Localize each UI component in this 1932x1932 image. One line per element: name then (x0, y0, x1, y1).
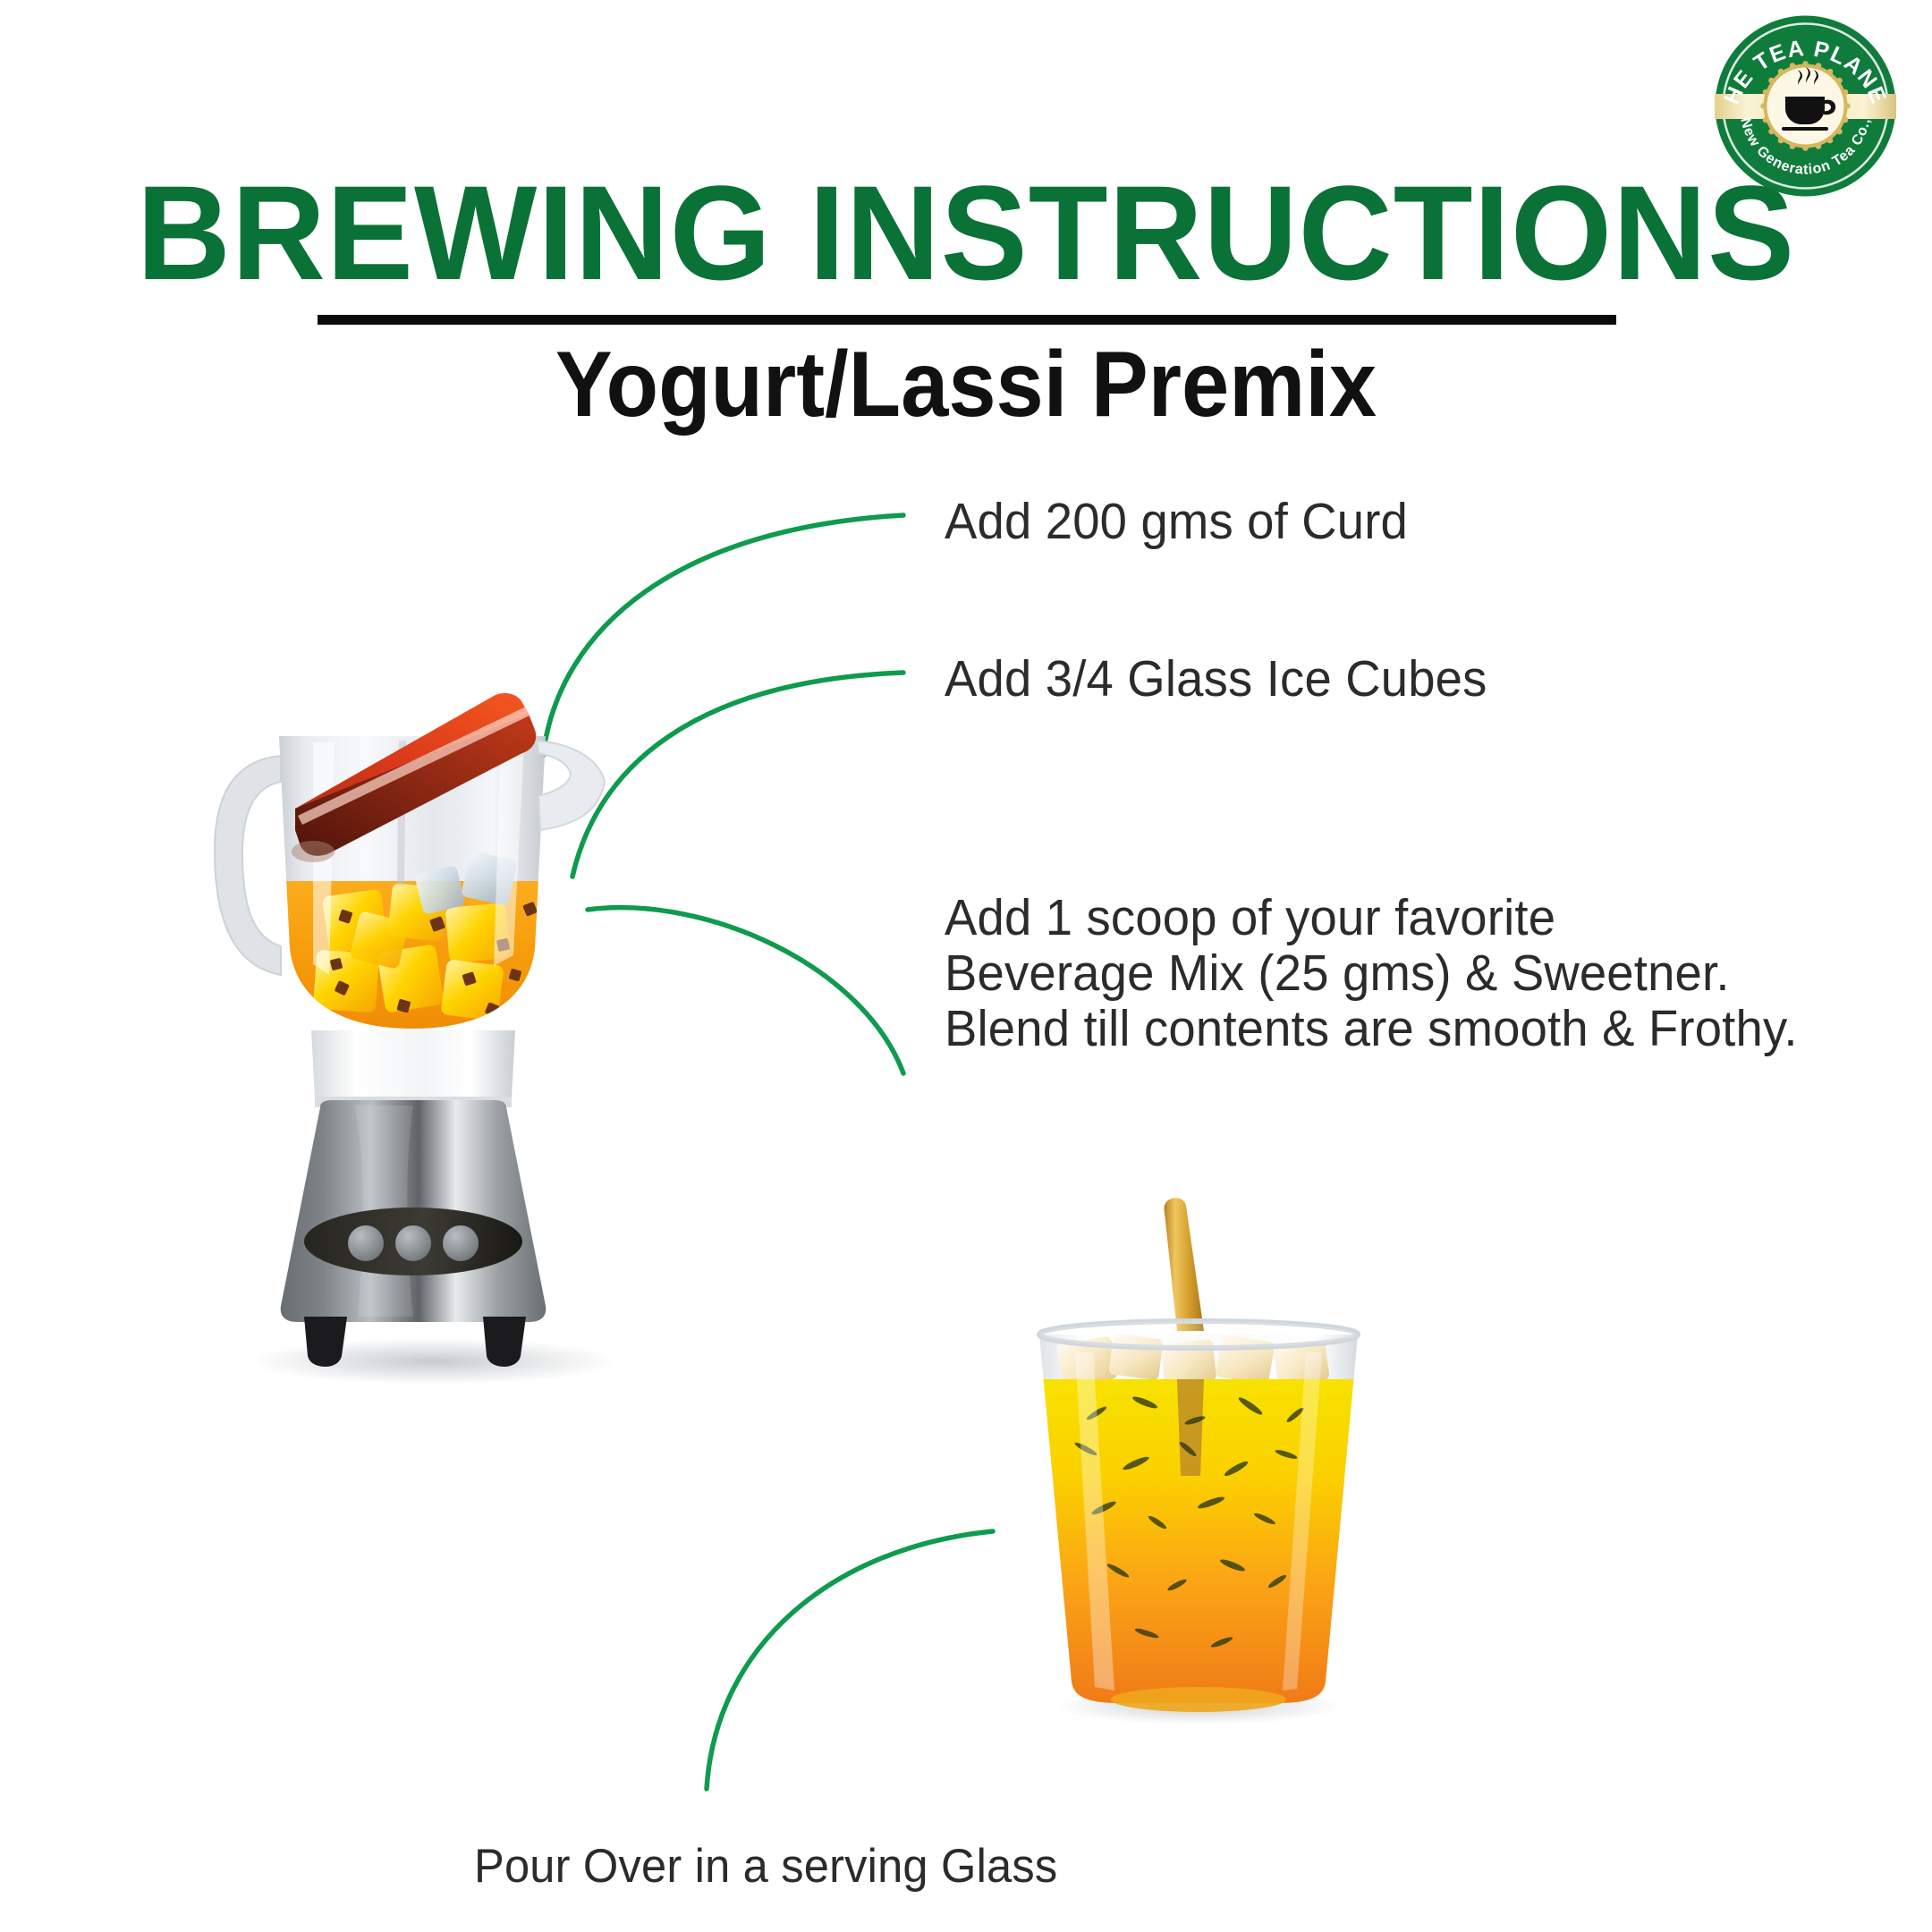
blender-illustration (179, 590, 680, 1431)
drinking-straw (1164, 1198, 1204, 1331)
cup-rim-fill (1039, 1321, 1358, 1348)
page-title: BREWING INSTRUCTIONS (29, 165, 1902, 300)
blender-button-2[interactable] (395, 1225, 431, 1261)
straw-submerged (1177, 1379, 1204, 1476)
serving-glass-svg (1011, 1181, 1386, 1735)
step-1-label: Add 200 gms of Curd (945, 494, 1408, 550)
connector-step-4 (707, 1531, 993, 1789)
step-2-label: Add 3/4 Glass Ice Cubes (945, 651, 1487, 708)
blender-svg (179, 590, 680, 1431)
blender-spout (537, 741, 605, 830)
title-underline (318, 315, 1616, 325)
page-subtitle: Yogurt/Lassi Premix (77, 333, 1854, 436)
blender-collar (311, 1030, 515, 1097)
serving-glass-illustration (1011, 1181, 1386, 1735)
blender-button-3[interactable] (443, 1225, 479, 1261)
step-3-label: Add 1 scoop of your favorite Beverage Mi… (945, 890, 1798, 1056)
blender-buttons[interactable] (348, 1225, 479, 1261)
blender-button-1[interactable] (348, 1225, 384, 1261)
blender-shadow (250, 1338, 617, 1385)
blender-handle (215, 756, 281, 975)
cup-base (1111, 1687, 1286, 1712)
step-4-label: Pour Over in a serving Glass (474, 1841, 1057, 1893)
